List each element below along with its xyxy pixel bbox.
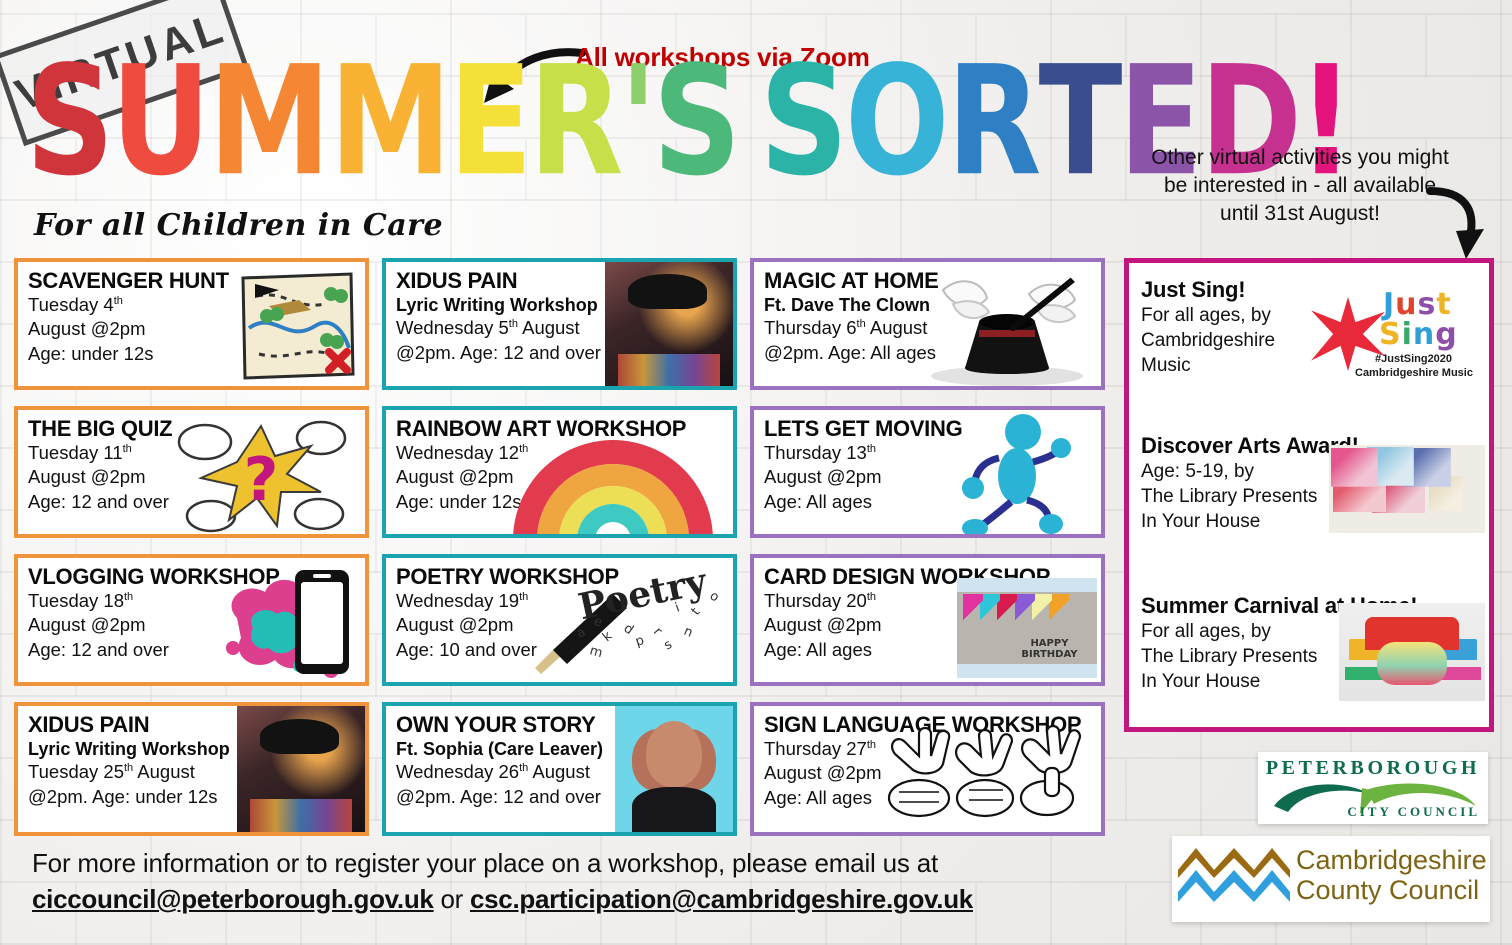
title-letter: R bbox=[947, 47, 1035, 198]
workshop-card-body: VLOGGING WORKSHOPTuesday 18thAugust @2pm… bbox=[18, 558, 365, 682]
xidus-pain-photo bbox=[605, 262, 733, 386]
question-mark-burst-icon: ? bbox=[171, 416, 351, 534]
workshop-grid: SCAVENGER HUNTTuesday 4thAugust @2pmAge:… bbox=[14, 258, 1124, 834]
birthday-card-icon: HAPPYBIRTHDAY bbox=[957, 578, 1097, 678]
title-letter: S bbox=[26, 47, 108, 198]
svg-text:n: n bbox=[682, 624, 695, 641]
svg-text:p: p bbox=[634, 633, 646, 650]
svg-text:m: m bbox=[588, 643, 604, 661]
workshop-column: XIDUS PAINLyric Writing WorkshopWednesda… bbox=[382, 258, 737, 834]
other-activities-panel: JustSing#JustSing2020Cambridgeshire Musi… bbox=[1124, 258, 1494, 732]
svg-text:k: k bbox=[600, 628, 616, 645]
ccc-line1: Cambridgeshire bbox=[1296, 846, 1487, 876]
svg-text:s: s bbox=[662, 637, 676, 653]
birthday-card-text: HAPPYBIRTHDAY bbox=[1021, 638, 1077, 660]
workshop-card[interactable]: RAINBOW ART WORKSHOPWednesday 12thAugust… bbox=[382, 406, 737, 538]
title-letter: S bbox=[760, 47, 842, 198]
workshop-card[interactable]: OWN YOUR STORYFt. Sophia (Care Leaver)We… bbox=[382, 702, 737, 836]
running-figure-icon bbox=[955, 412, 1075, 538]
workshop-card-body: MAGIC AT HOMEFt. Dave The ClownThursday … bbox=[754, 262, 1101, 386]
treasure-map-icon bbox=[235, 270, 359, 382]
page-subtitle: For all Children in Care bbox=[34, 208, 443, 243]
activity-item[interactable]: Summer Carnival at Home!For all ages, by… bbox=[1141, 593, 1489, 733]
svg-text:o: o bbox=[707, 588, 721, 605]
workshop-card[interactable]: XIDUS PAINLyric Writing WorkshopTuesday … bbox=[14, 702, 369, 836]
svg-text:t: t bbox=[689, 605, 704, 619]
xidus-pain-photo bbox=[237, 706, 365, 832]
workshop-card[interactable]: LETS GET MOVINGThursday 13thAugust @2pmA… bbox=[750, 406, 1105, 538]
title-letter: U bbox=[111, 47, 204, 198]
workshop-card-body: SCAVENGER HUNTTuesday 4thAugust @2pmAge:… bbox=[18, 262, 365, 386]
title-letter: ' bbox=[620, 47, 651, 198]
title-letter: R bbox=[529, 47, 617, 198]
workshop-card-body: LETS GET MOVINGThursday 13thAugust @2pmA… bbox=[754, 410, 1101, 534]
activity-item[interactable]: JustSing#JustSing2020Cambridgeshire Musi… bbox=[1141, 277, 1489, 417]
workshop-card-body: HAPPYBIRTHDAYCARD DESIGN WORKSHOPThursda… bbox=[754, 558, 1101, 682]
footer-separator: or bbox=[434, 884, 470, 914]
activity-item[interactable]: Discover Arts Award!Age: 5-19, byThe Lib… bbox=[1141, 433, 1489, 573]
workshop-card-body: OWN YOUR STORYFt. Sophia (Care Leaver)We… bbox=[386, 706, 733, 832]
email-link-cambridgeshire[interactable]: csc.participation@cambridgeshire.gov.uk bbox=[470, 884, 973, 914]
art-prints-photo bbox=[1329, 445, 1485, 533]
page-title: SUMMER'S SORTED! bbox=[24, 88, 1064, 198]
sign-language-hands-icon bbox=[883, 720, 1083, 824]
just-sing-hashtag: #JustSing2020 bbox=[1375, 353, 1452, 365]
footer-emails: ciccouncil@peterborough.gov.uk or csc.pa… bbox=[32, 884, 1092, 915]
workshop-card[interactable]: SIGN LANGUAGE WORKSHOPThursday 27thAugus… bbox=[750, 702, 1105, 836]
workshop-title: RAINBOW ART WORKSHOP bbox=[396, 417, 733, 441]
footer: For more information or to register your… bbox=[32, 848, 1092, 915]
pcc-line2: CITY COUNCIL bbox=[1347, 804, 1480, 820]
workshop-column: SCAVENGER HUNTTuesday 4thAugust @2pmAge:… bbox=[14, 258, 369, 834]
workshop-card-body: SIGN LANGUAGE WORKSHOPThursday 27thAugus… bbox=[754, 706, 1101, 832]
email-link-peterborough[interactable]: ciccouncil@peterborough.gov.uk bbox=[32, 884, 434, 914]
just-sing-logo: JustSing#JustSing2020Cambridgeshire Musi… bbox=[1309, 283, 1485, 387]
workshop-card[interactable]: HAPPYBIRTHDAYCARD DESIGN WORKSHOPThursda… bbox=[750, 554, 1105, 686]
svg-text:?: ? bbox=[244, 445, 279, 515]
workshop-card-body: RAINBOW ART WORKSHOPWednesday 12thAugust… bbox=[386, 410, 733, 534]
ccc-name: Cambridgeshire County Council bbox=[1296, 846, 1487, 905]
workshop-card[interactable]: VLOGGING WORKSHOPTuesday 18thAugust @2pm… bbox=[14, 554, 369, 686]
title-letter: T bbox=[1038, 47, 1115, 198]
workshop-card[interactable]: XIDUS PAINLyric Writing WorkshopWednesda… bbox=[382, 258, 737, 390]
ccc-line2: County Council bbox=[1296, 876, 1487, 906]
smartphone-splash-icon bbox=[203, 562, 363, 684]
carnival-mask-photo bbox=[1339, 603, 1485, 701]
title-letter: O bbox=[845, 47, 943, 198]
cambridgeshire-county-council-logo: Cambridgeshire County Council bbox=[1172, 836, 1490, 922]
just-sing-org: Cambridgeshire Music bbox=[1355, 367, 1473, 379]
sophia-photo bbox=[615, 706, 733, 832]
workshop-column: MAGIC AT HOMEFt. Dave The ClownThursday … bbox=[750, 258, 1105, 834]
title-letter: M bbox=[209, 47, 325, 198]
title-letter: E bbox=[448, 47, 525, 198]
svg-text:r: r bbox=[650, 625, 665, 639]
peterborough-city-council-logo: PETERBOROUGH CITY COUNCIL bbox=[1258, 752, 1488, 824]
workshop-card-body: PoetryaekdprsntomiPOETRY WORKSHOPWednesd… bbox=[386, 558, 733, 682]
title-letter: S bbox=[653, 47, 735, 198]
workshop-card[interactable]: SCAVENGER HUNTTuesday 4thAugust @2pmAge:… bbox=[14, 258, 369, 390]
just-sing-word2: Sing bbox=[1379, 317, 1458, 352]
curved-arrow-to-panel-icon bbox=[1420, 185, 1490, 265]
rainbow-craft-icon bbox=[503, 440, 723, 538]
title-letter: M bbox=[329, 47, 445, 198]
workshop-card-body: XIDUS PAINLyric Writing WorkshopTuesday … bbox=[18, 706, 365, 832]
workshop-card[interactable]: PoetryaekdprsntomiPOETRY WORKSHOPWednesd… bbox=[382, 554, 737, 686]
title-letter bbox=[737, 47, 758, 198]
workshop-card[interactable]: MAGIC AT HOMEFt. Dave The ClownThursday … bbox=[750, 258, 1105, 390]
just-sing-star-icon bbox=[1311, 297, 1385, 371]
footer-instruction: For more information or to register your… bbox=[32, 848, 1092, 879]
workshop-card-body: ?THE BIG QUIZTuesday 11thAugust @2pmAge:… bbox=[18, 410, 365, 534]
side-note: Other virtual activities you might be in… bbox=[1150, 144, 1450, 228]
magic-hat-wand-icon bbox=[917, 264, 1097, 390]
workshop-card-body: XIDUS PAINLyric Writing WorkshopWednesda… bbox=[386, 262, 733, 386]
workshop-card[interactable]: ?THE BIG QUIZTuesday 11thAugust @2pmAge:… bbox=[14, 406, 369, 538]
poetry-pen-icon: Poetryaekdprsntomi bbox=[527, 572, 727, 680]
